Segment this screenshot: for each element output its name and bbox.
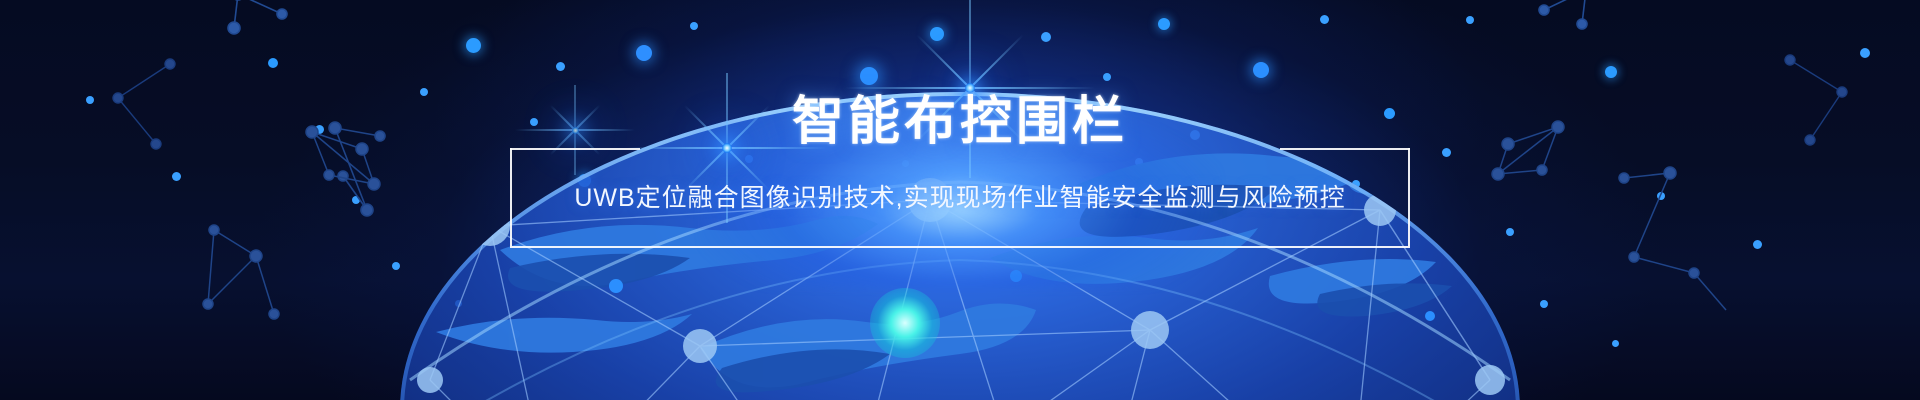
constellation-cluster bbox=[178, 218, 378, 398]
page-subtitle: UWB定位融合图像识别技术,实现现场作业智能安全监测与风险预控 bbox=[0, 186, 1920, 211]
hero-banner: 智能布控围栏 UWB定位融合图像识别技术,实现现场作业智能安全监测与风险预控 bbox=[0, 0, 1920, 400]
starburst-core bbox=[965, 83, 975, 93]
frame-top-line-left bbox=[510, 148, 640, 150]
frame-top-line-right bbox=[1280, 148, 1410, 150]
cyan-node-glow bbox=[870, 288, 940, 358]
page-title: 智能布控围栏 bbox=[0, 96, 1920, 148]
